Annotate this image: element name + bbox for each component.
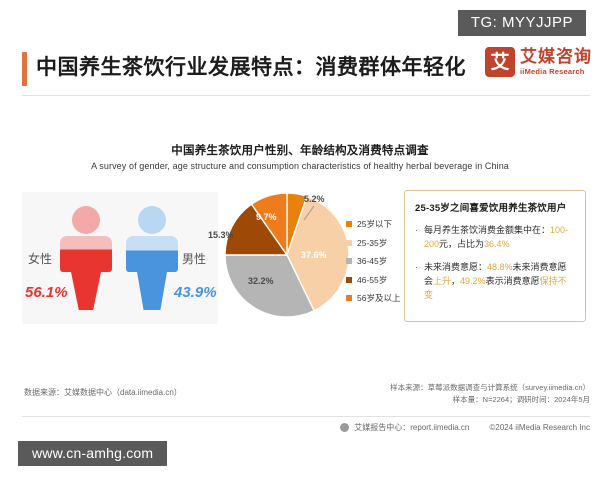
pie-label-46-55: 15.3% [208,230,234,240]
pie-legend: 25岁以下25-35岁36-45岁46-55岁56岁及以上 [346,218,400,311]
legend-swatch-icon [346,240,352,246]
legend-item-36-45岁[interactable]: 36-45岁 [346,255,400,267]
tg-watermark: TG: MYYJJPP [458,10,586,36]
pie-svg [222,190,352,320]
plain-text: 元，占比为 [439,239,484,249]
footer-bar: 艾媒报告中心：report.iimedia.cn ©2024 iiMedia R… [340,422,590,433]
male-body [126,236,178,272]
insight-callout: 25-35岁之间喜爱饮用养生茶饮用户 ·每月养生茶饮消费金额集中在：100-20… [404,190,586,322]
brand-name-en: iiMedia Research [520,68,592,76]
male-head [138,206,166,234]
female-label: 女性 [28,250,52,267]
legend-item-25岁以下[interactable]: 25岁以下 [346,218,400,230]
pie-label-under-25: 5.2% [304,194,325,204]
highlight-value: 48.8% [487,262,513,272]
legend-swatch-icon [346,258,352,264]
female-figure-icon [60,206,112,310]
chart-subtitle: A survey of gender, age structure and co… [0,161,600,171]
copyright-text: ©2024 iiMedia Research Inc [489,423,590,432]
pie-label-25-35: 37.6% [301,250,327,260]
age-pie-chart: 37.6% 32.2% 15.3% 9.7% 5.2% 25岁以下25-35岁3… [218,186,398,332]
callout-bullet-2: ·未来消费意愿：48.8%未来消费意愿会上升，49.2%表示消费意愿保持不变 [415,260,575,302]
legend-item-25-35岁[interactable]: 25-35岁 [346,237,400,249]
callout-bullet-1: ·每月养生茶饮消费金额集中在：100-200元，占比为36.4% [415,223,575,251]
slide-root: TG: MYYJJPP 中国养生茶饮行业发展特点：消费群体年轻化 艾 艾媒咨询 … [0,0,600,480]
plain-text: 每月养生茶饮消费金额集中在： [424,225,550,235]
site-watermark: www.cn-amhg.com [18,441,167,466]
source-right: 样本来源：草莓派数据调查与计算系统（survey.iimedia.cn） 样本量… [390,382,590,406]
legend-item-46-55岁[interactable]: 46-55岁 [346,274,400,286]
brand-mark-icon: 艾 [485,47,515,77]
legend-item-56岁及以上[interactable]: 56岁及以上 [346,292,400,304]
bullet-dot-icon: · [415,260,424,302]
male-legs [137,272,167,310]
pie-label-56-plus: 9.7% [256,212,277,222]
legend-swatch-icon [346,277,352,283]
bullet-dot-icon: · [415,223,424,251]
plain-text: ， [451,276,460,286]
male-percent: 43.9% [174,284,217,301]
male-figure-icon [126,206,178,310]
female-percent: 56.1% [25,284,68,301]
female-legs [71,272,101,310]
page-title: 中国养生茶饮行业发展特点：消费群体年轻化 [36,47,466,89]
callout-items: ·每月养生茶饮消费金额集中在：100-200元，占比为36.4%·未来消费意愿：… [415,223,575,302]
legend-swatch-icon [346,221,352,227]
report-center-icon [340,423,349,432]
gender-panel: 女性 男性 56.1% 43.9% [22,192,218,324]
female-body [60,236,112,272]
brand-logo: 艾 艾媒咨询 iiMedia Research [485,47,592,77]
legend-swatch-icon [346,295,352,301]
plain-text: 未来消费意愿： [424,262,487,272]
report-center-link[interactable]: 艾媒报告中心：report.iimedia.cn [354,422,469,433]
content-band: 女性 男性 56.1% 43.9% 37.6% 32.2% 15.3% 9.7%… [22,186,590,332]
legend-label: 25岁以下 [357,218,392,230]
header-divider [22,95,590,96]
plain-text: 表示消费意愿 [486,276,540,286]
sample-source-line: 样本来源：草莓派数据调查与计算系统（survey.iimedia.cn） [390,382,590,394]
title-accent-bar [22,52,27,86]
legend-label: 46-55岁 [357,274,387,286]
highlight-value: 49.2% [460,276,486,286]
highlight-value: 上升 [433,276,451,286]
header: 中国养生茶饮行业发展特点：消费群体年轻化 艾 艾媒咨询 iiMedia Rese… [0,47,600,95]
source-left: 数据来源：艾媒数据中心（data.iimedia.cn） [24,387,182,398]
callout-title: 25-35岁之间喜爱饮用养生茶饮用户 [415,200,575,214]
pie-label-36-45: 32.2% [248,276,274,286]
highlight-value: 36.4% [484,239,510,249]
legend-label: 56岁及以上 [357,292,400,304]
chart-title: 中国养生茶饮用户性别、年龄结构及消费特点调查 [0,142,600,158]
male-label: 男性 [182,250,206,267]
brand-text: 艾媒咨询 iiMedia Research [520,48,592,76]
legend-label: 25-35岁 [357,237,387,249]
brand-name-cn: 艾媒咨询 [520,48,592,65]
sample-size-line: 样本量：N=2264；调研时间：2024年5月 [390,394,590,406]
callout-bullet-text: 每月养生茶饮消费金额集中在：100-200元，占比为36.4% [424,223,575,251]
female-head [72,206,100,234]
legend-label: 36-45岁 [357,255,387,267]
footer-divider [22,416,590,417]
callout-bullet-text: 未来消费意愿：48.8%未来消费意愿会上升，49.2%表示消费意愿保持不变 [424,260,575,302]
